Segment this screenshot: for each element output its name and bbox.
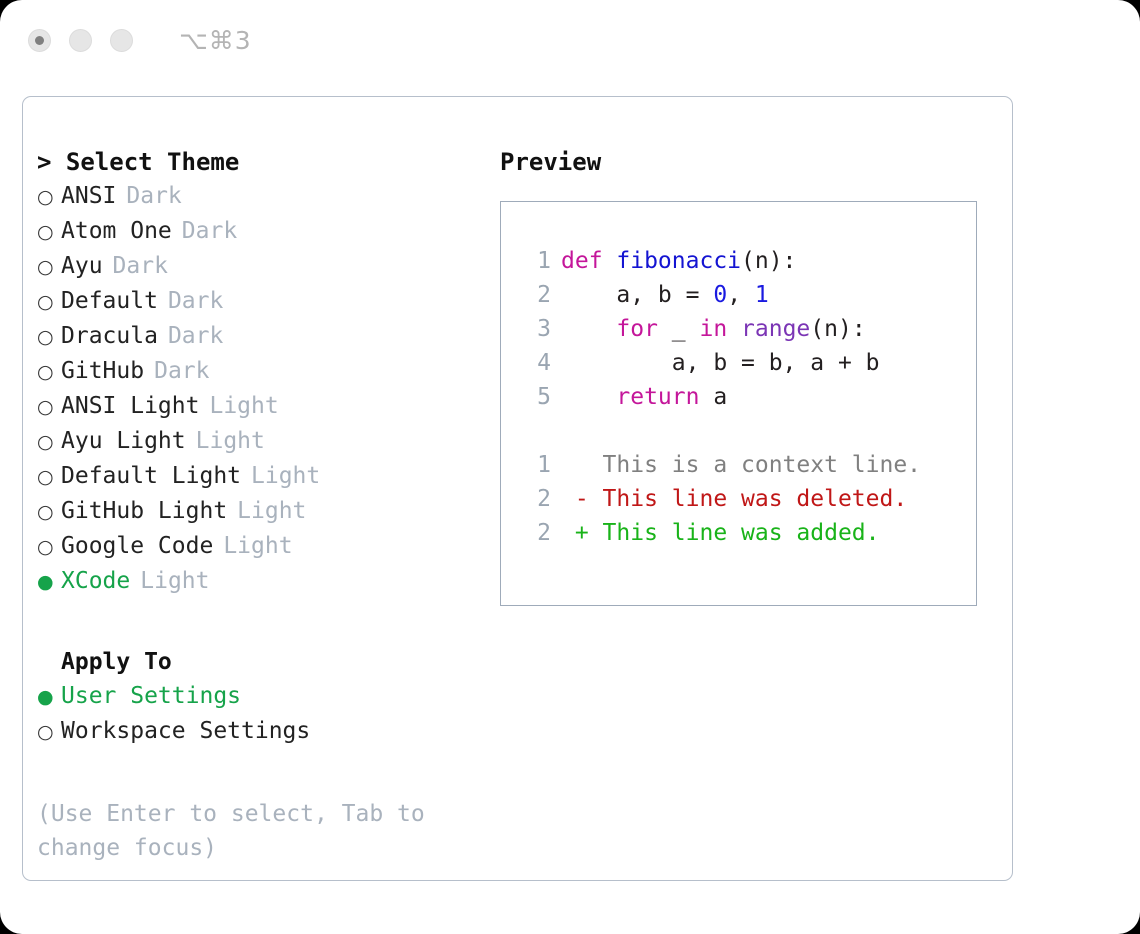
code-token-plain: (n): [741,248,796,274]
theme-item-label: Google Code [61,529,213,563]
theme-item-label: Dracula [61,319,158,353]
theme-list-item[interactable]: ○ANSI LightLight [37,389,497,424]
radio-unselected-icon[interactable]: ○ [37,180,61,214]
code-token-kw: def [561,248,616,274]
code-token-plain: a, b = b, a + b [561,350,880,376]
theme-item-label: Default [61,284,158,318]
radio-unselected-icon[interactable]: ○ [37,715,61,749]
radio-unselected-icon[interactable]: ○ [37,355,61,389]
diff-sign-marker: - [561,482,603,516]
diff-line: 2 - This line was deleted. [517,482,976,516]
theme-item-label: Default Light [61,459,241,493]
preview-box: 1def fibonacci(n):2 a, b = 0, 13 for _ i… [500,201,977,606]
code-line: 4 a, b = b, a + b [517,346,976,380]
select-theme-heading: > Select Theme [37,145,497,179]
theme-list-item[interactable]: ○GitHub LightLight [37,494,497,529]
theme-item-variant-badge: Light [140,564,209,598]
code-token-plain: a, b = [561,282,713,308]
theme-selection-column: > Select Theme ○ANSIDark○Atom OneDark○Ay… [37,145,497,865]
theme-item-label: ANSI [61,179,116,213]
theme-list-item[interactable]: ○GitHubDark [37,354,497,389]
code-token-num: 1 [755,282,769,308]
apply-to-item[interactable]: ●User Settings [37,679,497,714]
code-token-kw: return [616,384,699,410]
code-line-content: def fibonacci(n): [561,244,796,278]
radio-selected-icon[interactable]: ● [37,680,61,714]
theme-list-item[interactable]: ○DraculaDark [37,319,497,354]
code-line-content: return a [561,380,727,414]
preview-spacer [517,414,976,448]
theme-item-variant-badge: Light [209,389,278,423]
select-theme-title: Select Theme [66,148,239,176]
code-line-number: 4 [517,346,551,380]
code-line-content: a, b = 0, 1 [561,278,769,312]
code-line-content: a, b = b, a + b [561,346,880,380]
theme-list: ○ANSIDark○Atom OneDark○AyuDark○DefaultDa… [37,179,497,599]
code-token-plain: _ [658,316,700,342]
theme-item-label: Ayu Light [61,424,186,458]
apply-to-heading: Apply To [37,645,497,679]
theme-list-item[interactable]: ○Ayu LightLight [37,424,497,459]
apply-to-list: ●User Settings○Workspace Settings [37,679,497,749]
radio-unselected-icon[interactable]: ○ [37,530,61,564]
code-line-number: 3 [517,312,551,346]
theme-item-variant-badge: Light [251,459,320,493]
code-line-number: 1 [517,244,551,278]
window-titlebar: ⌥⌘3 [0,0,1140,80]
diff-line: 2 + This line was added. [517,516,976,550]
code-sample-block: 1def fibonacci(n):2 a, b = 0, 13 for _ i… [517,244,976,414]
theme-item-variant-badge: Light [196,424,265,458]
preview-title: Preview [500,145,1000,179]
code-token-call: range [741,316,810,342]
diff-line-text: This line was added. [603,516,880,550]
traffic-light-maximize-icon[interactable] [110,29,133,52]
radio-selected-icon[interactable]: ● [37,565,61,599]
diff-line-text: This line was deleted. [603,482,908,516]
code-line-number: 2 [517,278,551,312]
radio-unselected-icon[interactable]: ○ [37,460,61,494]
code-line: 5 return a [517,380,976,414]
traffic-light-group [28,29,133,52]
traffic-light-active-dot [35,36,44,45]
diff-line-text: This is a context line. [603,448,922,482]
main-panel: > Select Theme ○ANSIDark○Atom OneDark○Ay… [22,96,1013,881]
apply-to-item[interactable]: ○Workspace Settings [37,714,497,749]
diff-line-number: 2 [517,516,551,550]
theme-item-label: XCode [61,564,130,598]
select-theme-heading-label [51,148,65,176]
code-token-plain [727,316,741,342]
prompt-caret-icon: > [37,148,51,176]
keyboard-hint-text: (Use Enter to select, Tab to change focu… [37,797,457,865]
theme-list-item[interactable]: ○Atom OneDark [37,214,497,249]
theme-list-item[interactable]: ○Google CodeLight [37,529,497,564]
code-token-plain: (n): [810,316,865,342]
code-line-number: 5 [517,380,551,414]
theme-item-variant-badge: Dark [182,214,237,248]
code-line: 2 a, b = 0, 1 [517,278,976,312]
diff-sign-marker: + [561,516,603,550]
apply-to-item-label: Workspace Settings [61,714,310,748]
theme-item-variant-badge: Light [223,529,292,563]
diff-sample-block: 1 This is a context line.2 - This line w… [517,448,976,550]
apply-to-section: Apply To ●User Settings○Workspace Settin… [37,645,497,749]
theme-item-variant-badge: Light [237,494,306,528]
diff-line-number: 1 [517,448,551,482]
code-token-kw: for [616,316,658,342]
apply-to-item-label: User Settings [61,679,241,713]
theme-item-variant-badge: Dark [113,249,168,283]
traffic-light-minimize-icon[interactable] [69,29,92,52]
diff-line: 1 This is a context line. [517,448,976,482]
theme-list-item[interactable]: ●XCodeLight [37,564,497,599]
radio-unselected-icon[interactable]: ○ [37,320,61,354]
theme-list-item[interactable]: ○ANSIDark [37,179,497,214]
theme-item-variant-badge: Dark [168,319,223,353]
code-token-plain [561,316,616,342]
diff-line-number: 2 [517,482,551,516]
app-window: ⌥⌘3 > Select Theme ○ANSIDark○Atom OneDar… [0,0,1140,934]
radio-unselected-icon[interactable]: ○ [37,425,61,459]
theme-item-label: GitHub Light [61,494,227,528]
code-token-plain: a [699,384,727,410]
theme-item-variant-badge: Dark [126,179,181,213]
radio-unselected-icon[interactable]: ○ [37,215,61,249]
diff-sign-marker [561,448,603,482]
code-token-num: 0 [713,282,727,308]
radio-unselected-icon[interactable]: ○ [37,495,61,529]
theme-item-label: Atom One [61,214,172,248]
code-token-plain: , [727,282,755,308]
code-token-plain [561,384,616,410]
theme-list-item[interactable]: ○Default LightLight [37,459,497,494]
radio-unselected-icon[interactable]: ○ [37,390,61,424]
code-line-content: for _ in range(n): [561,312,866,346]
theme-item-label: GitHub [61,354,144,388]
traffic-light-close-icon[interactable] [28,29,51,52]
radio-unselected-icon[interactable]: ○ [37,285,61,319]
code-line: 3 for _ in range(n): [517,312,976,346]
theme-list-item[interactable]: ○DefaultDark [37,284,497,319]
theme-list-item[interactable]: ○AyuDark [37,249,497,284]
code-token-kw: in [699,316,727,342]
radio-unselected-icon[interactable]: ○ [37,250,61,284]
code-line: 1def fibonacci(n): [517,244,976,278]
window-shortcut-label: ⌥⌘3 [179,26,252,55]
preview-column: Preview 1def fibonacci(n):2 a, b = 0, 13… [500,145,1000,606]
code-token-fn: fibonacci [616,248,741,274]
theme-item-label: ANSI Light [61,389,199,423]
theme-item-variant-badge: Dark [168,284,223,318]
theme-item-label: Ayu [61,249,103,283]
theme-item-variant-badge: Dark [154,354,209,388]
